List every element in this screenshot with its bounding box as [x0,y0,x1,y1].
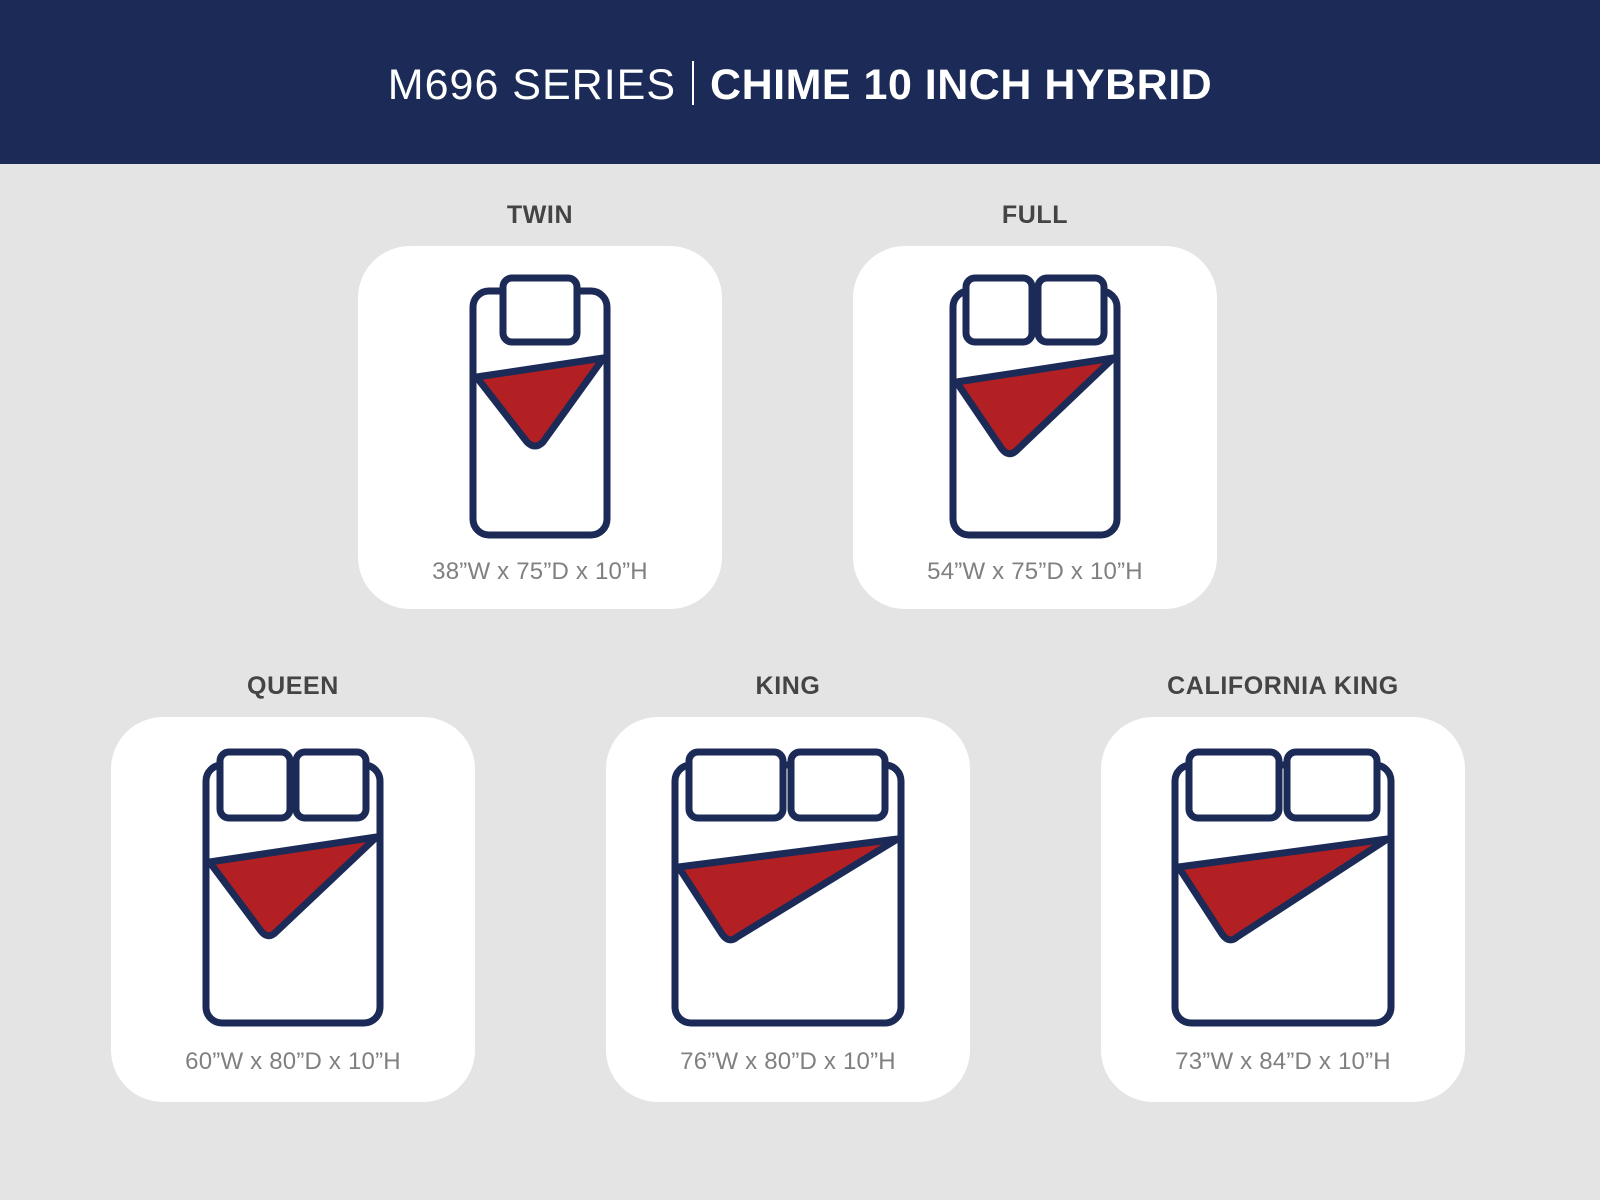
size-label-queen: QUEEN [111,674,475,699]
bed-double-icon [188,747,398,1032]
size-cell-twin: TWIN 38”W x 75”D x 10”H [358,203,722,609]
bed-double-icon [1157,747,1409,1032]
size-dimensions-full: 54”W x 75”D x 10”H [927,560,1143,584]
size-card-california-king[interactable]: 73”W x 84”D x 10”H [1101,717,1465,1102]
size-card-full[interactable]: 54”W x 75”D x 10”H [853,246,1217,609]
size-dimensions-twin: 38”W x 75”D x 10”H [432,560,648,584]
size-card-twin[interactable]: 38”W x 75”D x 10”H [358,246,722,609]
bed-double-icon [657,747,919,1032]
page-title: M696 SERIES CHIME 10 INCH HYBRID [388,55,1212,110]
size-dimensions-california-king: 73”W x 84”D x 10”H [1175,1050,1391,1074]
size-label-full: FULL [853,203,1217,228]
size-dimensions-king: 76”W x 80”D x 10”H [680,1050,896,1074]
size-label-twin: TWIN [358,203,722,228]
title-separator [692,61,694,105]
size-card-king[interactable]: 76”W x 80”D x 10”H [606,717,970,1102]
model-name: CHIME 10 INCH HYBRID [710,61,1212,110]
series-name: M696 SERIES [388,61,676,110]
size-card-queen[interactable]: 60”W x 80”D x 10”H [111,717,475,1102]
size-dimensions-queen: 60”W x 80”D x 10”H [185,1050,401,1074]
size-chart-grid: TWIN 38”W x 75”D x 10”H FULL 54”W x 75”D [0,164,1600,1200]
bed-single-icon [455,274,625,542]
size-label-california-king: CALIFORNIA KING [1101,674,1465,699]
bed-double-icon [935,274,1135,542]
page-header: M696 SERIES CHIME 10 INCH HYBRID [0,0,1600,164]
size-cell-queen: QUEEN 60”W x 80”D x 10”H [111,674,475,1102]
size-cell-full: FULL 54”W x 75”D x 10”H [853,203,1217,609]
size-cell-king: KING 76”W x 80”D x 10”H [606,674,970,1102]
size-label-king: KING [606,674,970,699]
size-cell-california-king: CALIFORNIA KING 73”W x 84”D x 10”H [1101,674,1465,1102]
